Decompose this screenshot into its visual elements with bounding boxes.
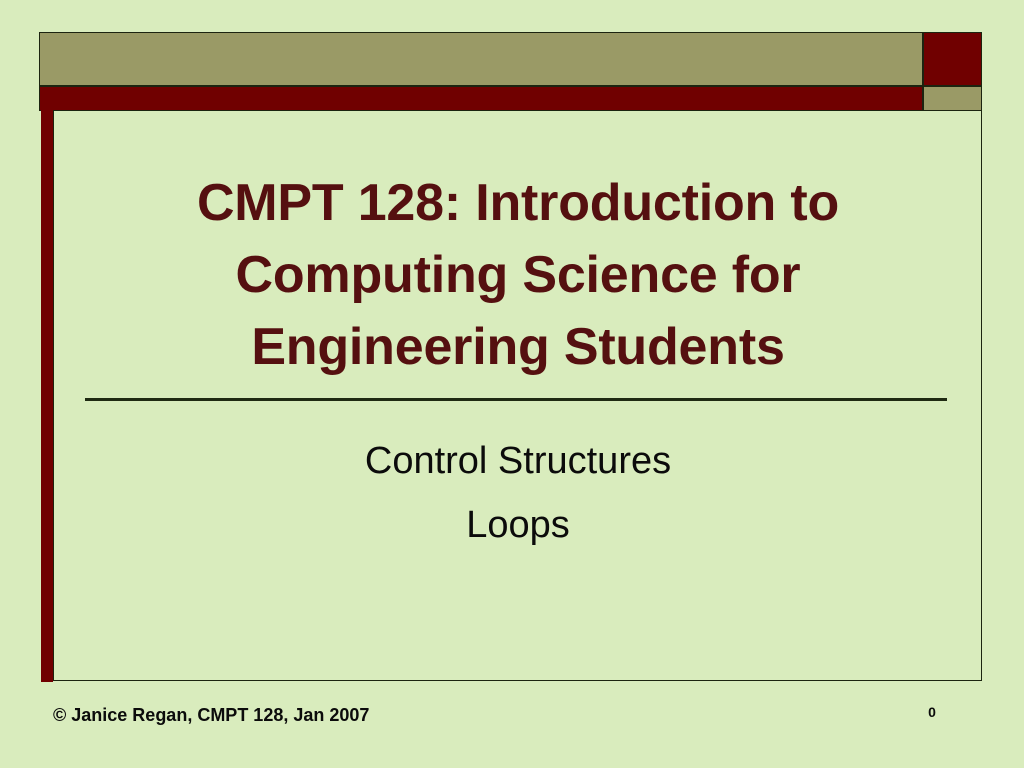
footer-copyright: © Janice Regan, CMPT 128, Jan 2007 <box>53 705 369 726</box>
header-corner-olive <box>923 86 982 111</box>
subtitle-line-2: Loops <box>86 494 950 558</box>
title-course-code: CMPT 128: <box>197 174 461 232</box>
header-band-dark-red <box>39 86 923 111</box>
slide-canvas: CMPT 128: Introduction to Computing Scie… <box>0 0 1024 768</box>
title-divider-rule <box>85 398 947 401</box>
subtitle-line-1: Control Structures <box>86 430 950 494</box>
footer-page-number: 0 <box>912 704 952 720</box>
header-band-olive <box>39 32 923 86</box>
slide-subtitle: Control Structures Loops <box>86 430 950 558</box>
content-frame-left-bar <box>41 110 53 682</box>
slide-title: CMPT 128: Introduction to Computing Scie… <box>86 168 950 383</box>
header-corner-dark-red <box>923 32 982 86</box>
